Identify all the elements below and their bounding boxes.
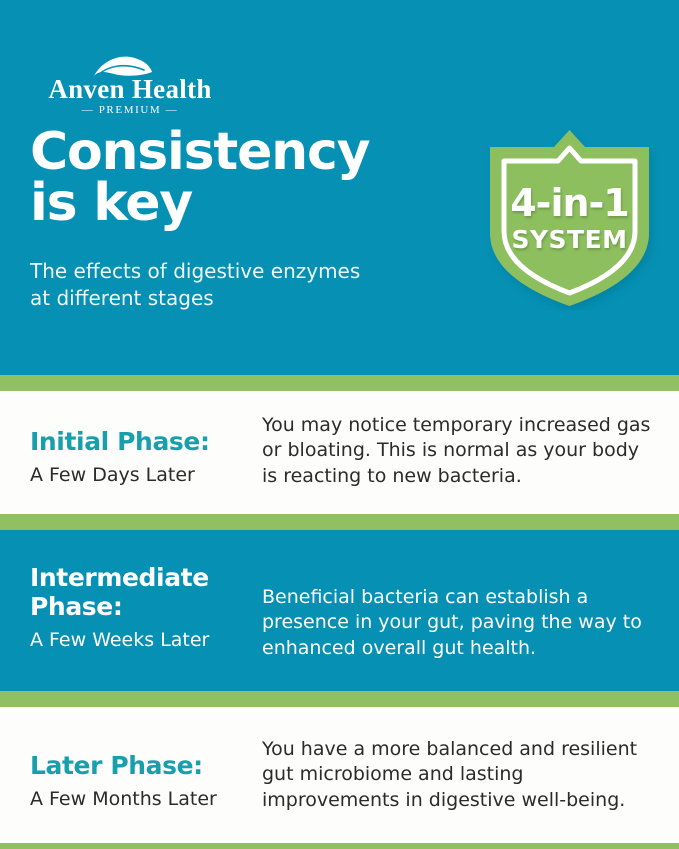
headline-line-2: is key bbox=[30, 178, 450, 229]
phase-description-group: You have a more balanced and resilient g… bbox=[262, 733, 679, 813]
page-title: Consistency is key bbox=[30, 127, 450, 229]
phase-description: Beneficial bacteria can establish a pres… bbox=[262, 585, 653, 661]
subtitle-line-2: at different stages bbox=[30, 285, 430, 312]
phase-section-initial: Initial Phase: A Few Days Later You may … bbox=[0, 391, 679, 514]
phase-description: You have a more balanced and resilient g… bbox=[262, 737, 653, 813]
phase-heading-group: Later Phase: A Few Months Later bbox=[0, 733, 262, 812]
infographic-poster: Anven Health — PREMIUM — Consistency is … bbox=[0, 0, 679, 849]
hero-banner: Anven Health — PREMIUM — Consistency is … bbox=[0, 0, 679, 375]
phase-section-later: Later Phase: A Few Months Later You have… bbox=[0, 707, 679, 843]
subtitle-line-1: The effects of digestive enzymes bbox=[30, 258, 430, 285]
shield-icon bbox=[482, 125, 657, 310]
phase-description-group: You may notice temporary increased gas o… bbox=[262, 413, 679, 489]
brand-name: Anven Health bbox=[30, 74, 230, 105]
divider-bar-2 bbox=[0, 514, 679, 530]
brand-tagline: — PREMIUM — bbox=[30, 104, 230, 116]
four-in-one-badge: 4-in-1 SYSTEM bbox=[482, 125, 657, 310]
phase-timeframe: A Few Days Later bbox=[30, 463, 254, 488]
phase-title: Intermediate Phase: bbox=[30, 563, 254, 621]
phase-heading-group: Initial Phase: A Few Days Later bbox=[0, 413, 262, 488]
headline-line-1: Consistency bbox=[30, 127, 450, 178]
divider-bar-3 bbox=[0, 691, 679, 707]
phase-description-group: Beneficial bacteria can establish a pres… bbox=[262, 563, 679, 661]
divider-bar-bottom bbox=[0, 843, 679, 849]
phase-title: Initial Phase: bbox=[30, 427, 254, 456]
phase-heading-group: Intermediate Phase: A Few Weeks Later bbox=[0, 563, 262, 653]
phase-timeframe: A Few Months Later bbox=[30, 787, 254, 812]
page-subtitle: The effects of digestive enzymes at diff… bbox=[30, 258, 430, 312]
divider-bar-1 bbox=[0, 375, 679, 391]
phase-timeframe: A Few Weeks Later bbox=[30, 628, 254, 653]
phase-description: You may notice temporary increased gas o… bbox=[262, 413, 653, 489]
phase-title: Later Phase: bbox=[30, 751, 254, 780]
phase-section-intermediate: Intermediate Phase: A Few Weeks Later Be… bbox=[0, 530, 679, 691]
